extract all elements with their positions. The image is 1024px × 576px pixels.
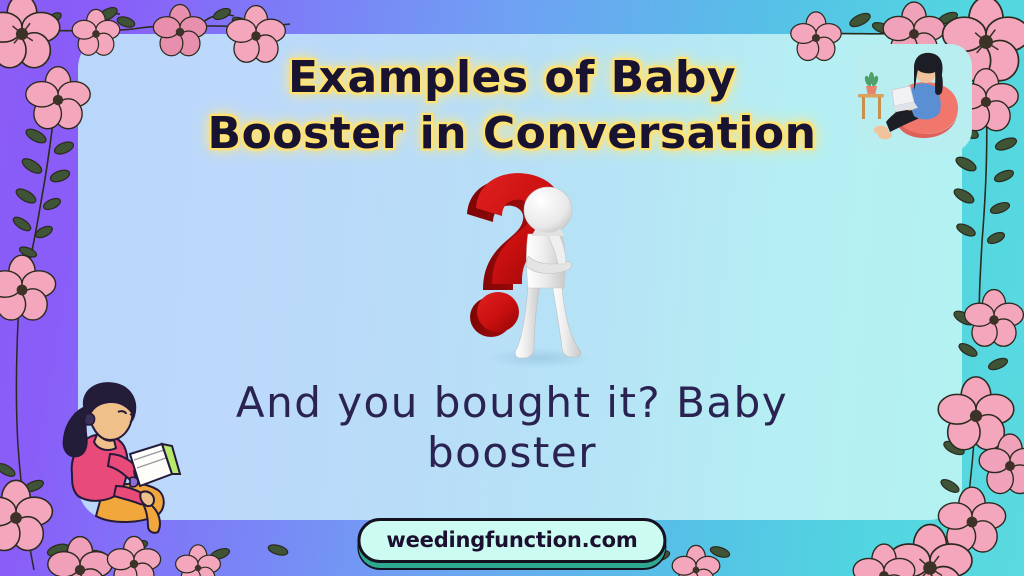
subtitle-line-2: booster	[0, 428, 1024, 478]
flower-cluster-right-mid	[956, 280, 1024, 390]
subtitle-line-1: And you bought it? Baby	[0, 378, 1024, 428]
subtitle: And you bought it? Baby booster	[0, 378, 1024, 477]
watermark-badge[interactable]: weedingfunction.com	[357, 518, 666, 563]
title-line-2: Booster in Conversation	[0, 106, 1024, 162]
question-mark-thinker-graphic	[448, 172, 618, 368]
title-line-1: Examples of Baby	[0, 50, 1024, 106]
poster-canvas: Examples of Baby Booster in Conversation	[0, 0, 1024, 576]
page-title: Examples of Baby Booster in Conversation	[0, 50, 1024, 163]
